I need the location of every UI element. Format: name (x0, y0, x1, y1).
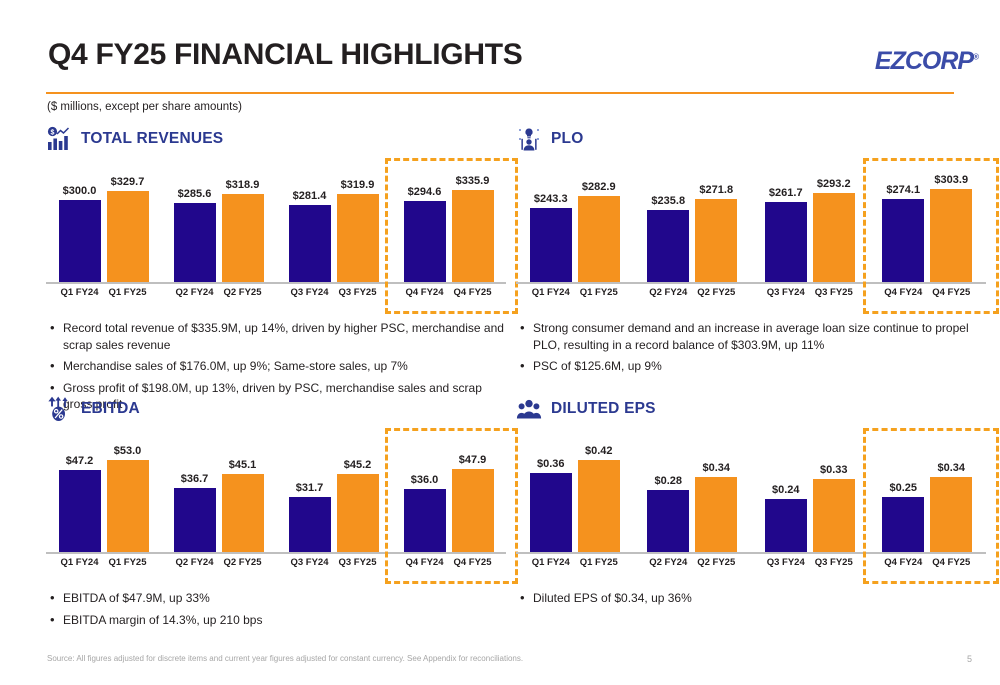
bar-prior-year (59, 470, 101, 552)
bar-prior-year (174, 203, 216, 282)
bar-chart-dollar-icon: $ (46, 125, 72, 153)
chart-tick-label: Q1 FY24 (59, 557, 101, 568)
bar-prior-year (647, 490, 689, 552)
bar-prior-year (404, 201, 446, 282)
chart-tick-label: Q4 FY25 (930, 557, 972, 568)
bar-current-year (813, 193, 855, 282)
chart-tick-group: Q1 FY24Q1 FY25 (516, 557, 634, 568)
bar-value-label: $285.6 (178, 188, 212, 200)
bullet-item: Merchandise sales of $176.0M, up 9%; Sam… (46, 358, 506, 375)
bar-current-year (107, 460, 149, 552)
chart-tick-label: Q1 FY25 (107, 557, 149, 568)
chart-axis-line (516, 552, 986, 554)
chart-tick-label: Q2 FY24 (647, 287, 689, 298)
bar-value-label: $0.34 (702, 462, 730, 474)
chart-bar-item: $31.7 (289, 432, 331, 552)
bar-value-label: $47.2 (66, 455, 94, 467)
chart-tick-group: Q2 FY24Q2 FY25 (161, 287, 276, 298)
chart-x-tick-labels: Q1 FY24Q1 FY25Q2 FY24Q2 FY25Q3 FY24Q3 FY… (516, 557, 986, 568)
bar-value-label: $274.1 (886, 184, 920, 196)
chart-tick-label: Q4 FY24 (882, 287, 924, 298)
bar-value-label: $0.36 (537, 458, 565, 470)
bar-value-label: $271.8 (699, 184, 733, 196)
chart-plo: $243.3$282.9$235.8$271.8$261.7$293.2$274… (516, 162, 986, 310)
bar-prior-year (289, 497, 331, 552)
chart-tick-label: Q4 FY25 (452, 287, 494, 298)
bar-current-year (337, 474, 379, 553)
panel-title-ebitda: EBITDA (81, 400, 140, 418)
bar-prior-year (765, 499, 807, 552)
bar-value-label: $0.33 (820, 464, 848, 476)
bullets-diluted-eps: Diluted EPS of $0.34, up 36% (516, 590, 986, 607)
chart-tick-label: Q1 FY24 (530, 557, 572, 568)
chart-bar-item: $243.3 (530, 162, 572, 282)
chart-tick-label: Q4 FY24 (882, 557, 924, 568)
units-note: ($ millions, except per share amounts) (47, 101, 242, 113)
bar-value-label: $293.2 (817, 178, 851, 190)
chart-plot-area: $47.2$53.0$36.7$45.1$31.7$45.2$36.0$47.9 (46, 432, 506, 552)
page-number: 5 (967, 654, 972, 664)
bar-prior-year (647, 210, 689, 282)
chart-tick-label: Q2 FY24 (174, 287, 216, 298)
chart-bar-item: $0.36 (530, 432, 572, 552)
growth-percent-icon (46, 395, 72, 423)
bar-value-label: $36.7 (181, 473, 209, 485)
bar-value-label: $318.9 (226, 179, 260, 191)
bullet-item: Record total revenue of $335.9M, up 14%,… (46, 320, 506, 353)
chart-total-revenues: $300.0$329.7$285.6$318.9$281.4$319.9$294… (46, 162, 506, 310)
chart-bar-item: $281.4 (289, 162, 331, 282)
trademark-mark: ® (973, 53, 978, 62)
chart-bar-item: $282.9 (578, 162, 620, 282)
chart-bar-group: $261.7$293.2 (751, 162, 869, 282)
chart-tick-label: Q1 FY25 (107, 287, 149, 298)
chart-bar-group: $300.0$329.7 (46, 162, 161, 282)
bullet-item: Diluted EPS of $0.34, up 36% (516, 590, 986, 607)
bar-prior-year (882, 497, 924, 552)
panel-title-total-revenues: TOTAL REVENUES (81, 130, 223, 148)
chart-x-tick-labels: Q1 FY24Q1 FY25Q2 FY24Q2 FY25Q3 FY24Q3 FY… (516, 287, 986, 298)
chart-tick-label: Q3 FY25 (337, 557, 379, 568)
bullet-item: PSC of $125.6M, up 9% (516, 358, 986, 375)
chart-bar-item: $45.2 (337, 432, 379, 552)
bar-current-year (578, 196, 620, 282)
chart-tick-label: Q3 FY24 (765, 287, 807, 298)
bar-prior-year (174, 488, 216, 552)
bar-prior-year (882, 199, 924, 282)
chart-tick-label: Q4 FY25 (452, 557, 494, 568)
panel-header-ebitda: EBITDA (46, 394, 506, 424)
bar-current-year (578, 460, 620, 552)
chart-bar-group: $0.28$0.34 (634, 432, 752, 552)
chart-bar-item: $293.2 (813, 162, 855, 282)
chart-bar-item: $303.9 (930, 162, 972, 282)
chart-tick-label: Q2 FY25 (222, 557, 264, 568)
bar-value-label: $319.9 (341, 179, 375, 191)
bar-current-year (695, 199, 737, 282)
chart-bar-item: $0.24 (765, 432, 807, 552)
brand-logo-text: EZCORP (875, 47, 973, 75)
chart-bar-item: $53.0 (107, 432, 149, 552)
bar-value-label: $300.0 (63, 185, 97, 197)
chart-plot-area: $243.3$282.9$235.8$271.8$261.7$293.2$274… (516, 162, 986, 282)
chart-bar-item: $300.0 (59, 162, 101, 282)
chart-plot-area: $0.36$0.42$0.28$0.34$0.24$0.33$0.25$0.34 (516, 432, 986, 552)
bar-value-label: $0.25 (889, 482, 917, 494)
bar-value-label: $0.42 (585, 445, 613, 457)
chart-bar-group: $0.36$0.42 (516, 432, 634, 552)
chart-bar-item: $36.7 (174, 432, 216, 552)
bar-value-label: $31.7 (296, 482, 324, 494)
chart-bar-item: $0.42 (578, 432, 620, 552)
chart-bar-item: $274.1 (882, 162, 924, 282)
chart-tick-group: Q3 FY24Q3 FY25 (751, 557, 869, 568)
chart-tick-group: Q2 FY24Q2 FY25 (161, 557, 276, 568)
footer-source-note: Source: All figures adjusted for discret… (47, 654, 523, 663)
bar-value-label: $45.2 (344, 459, 372, 471)
panel-header-plo: PLO (516, 124, 986, 154)
bar-current-year (930, 477, 972, 552)
bar-current-year (222, 474, 264, 552)
bar-prior-year (765, 202, 807, 282)
page-title: Q4 FY25 FINANCIAL HIGHLIGHTS (48, 38, 522, 72)
bar-current-year (452, 190, 494, 282)
chart-tick-label: Q3 FY24 (289, 287, 331, 298)
bar-value-label: $335.9 (456, 175, 490, 187)
bar-value-label: $329.7 (111, 176, 145, 188)
panel-total-revenues: $ TOTAL REVENUES $300.0$329.7$285.6$318.… (46, 124, 506, 394)
chart-bar-group: $36.7$45.1 (161, 432, 276, 552)
chart-tick-group: Q1 FY24Q1 FY25 (46, 557, 161, 568)
chart-bar-item: $0.34 (930, 432, 972, 552)
chart-bar-item: $261.7 (765, 162, 807, 282)
bar-current-year (813, 479, 855, 552)
chart-bar-group: $31.7$45.2 (276, 432, 391, 552)
chart-plot-area: $300.0$329.7$285.6$318.9$281.4$319.9$294… (46, 162, 506, 282)
chart-axis-line (46, 552, 506, 554)
chart-bar-item: $47.2 (59, 432, 101, 552)
chart-tick-label: Q2 FY24 (647, 557, 689, 568)
bullets-ebitda: EBITDA of $47.9M, up 33%EBITDA margin of… (46, 590, 506, 628)
bar-prior-year (59, 200, 101, 283)
chart-tick-label: Q4 FY24 (404, 287, 446, 298)
chart-tick-label: Q3 FY25 (813, 557, 855, 568)
bar-value-label: $45.1 (229, 459, 257, 471)
chart-bar-item: $0.28 (647, 432, 689, 552)
bar-value-label: $294.6 (408, 186, 442, 198)
bullet-item: Strong consumer demand and an increase i… (516, 320, 986, 353)
chart-bar-item: $235.8 (647, 162, 689, 282)
chart-bar-item: $47.9 (452, 432, 494, 552)
bar-current-year (930, 189, 972, 282)
chart-tick-group: Q4 FY24Q4 FY25 (869, 557, 987, 568)
chart-ebitda: $47.2$53.0$36.7$45.1$31.7$45.2$36.0$47.9… (46, 432, 506, 580)
header-divider (46, 92, 954, 94)
chart-bar-item: $271.8 (695, 162, 737, 282)
chart-tick-label: Q3 FY24 (765, 557, 807, 568)
bar-prior-year (530, 473, 572, 552)
panel-header-total-revenues: $ TOTAL REVENUES (46, 124, 506, 154)
bar-prior-year (404, 489, 446, 552)
chart-tick-label: Q1 FY24 (59, 287, 101, 298)
chart-bar-group: $47.2$53.0 (46, 432, 161, 552)
chart-tick-group: Q2 FY24Q2 FY25 (634, 287, 752, 298)
bar-value-label: $53.0 (114, 445, 142, 457)
chart-bar-group: $243.3$282.9 (516, 162, 634, 282)
chart-tick-label: Q3 FY25 (813, 287, 855, 298)
chart-tick-label: Q4 FY24 (404, 557, 446, 568)
chart-tick-label: Q4 FY25 (930, 287, 972, 298)
chart-bar-item: $335.9 (452, 162, 494, 282)
chart-tick-label: Q2 FY25 (695, 287, 737, 298)
chart-bar-item: $0.25 (882, 432, 924, 552)
bar-value-label: $303.9 (934, 174, 968, 186)
person-idea-icon (516, 125, 542, 153)
chart-axis-line (516, 282, 986, 284)
bar-value-label: $36.0 (411, 474, 439, 486)
bar-value-label: $0.28 (654, 475, 682, 487)
panel-plo: PLO $243.3$282.9$235.8$271.8$261.7$293.2… (516, 124, 986, 394)
chart-bar-group: $281.4$319.9 (276, 162, 391, 282)
chart-x-tick-labels: Q1 FY24Q1 FY25Q2 FY24Q2 FY25Q3 FY24Q3 FY… (46, 287, 506, 298)
bar-value-label: $261.7 (769, 187, 803, 199)
chart-bar-item: $294.6 (404, 162, 446, 282)
bar-current-year (222, 194, 264, 282)
bar-prior-year (530, 208, 572, 282)
panel-title-diluted-eps: DILUTED EPS (551, 400, 656, 418)
bullet-item: EBITDA margin of 14.3%, up 210 bps (46, 612, 506, 629)
chart-tick-group: Q1 FY24Q1 FY25 (46, 287, 161, 298)
chart-tick-label: Q3 FY25 (337, 287, 379, 298)
bar-current-year (452, 469, 494, 552)
bar-value-label: $243.3 (534, 193, 568, 205)
chart-bar-item: $329.7 (107, 162, 149, 282)
chart-tick-group: Q3 FY24Q3 FY25 (751, 287, 869, 298)
chart-diluted-eps: $0.36$0.42$0.28$0.34$0.24$0.33$0.25$0.34… (516, 432, 986, 580)
chart-bar-item: $285.6 (174, 162, 216, 282)
chart-bar-item: $0.34 (695, 432, 737, 552)
bar-current-year (695, 477, 737, 552)
panel-title-plo: PLO (551, 130, 583, 148)
chart-tick-group: Q1 FY24Q1 FY25 (516, 287, 634, 298)
chart-bar-group: $0.25$0.34 (869, 432, 987, 552)
chart-bar-group: $0.24$0.33 (751, 432, 869, 552)
chart-bar-group: $285.6$318.9 (161, 162, 276, 282)
chart-bar-item: $318.9 (222, 162, 264, 282)
bar-value-label: $281.4 (293, 190, 327, 202)
chart-bar-group: $274.1$303.9 (869, 162, 987, 282)
chart-bar-item: $0.33 (813, 432, 855, 552)
panel-header-diluted-eps: DILUTED EPS (516, 394, 986, 424)
bar-prior-year (289, 205, 331, 282)
chart-tick-label: Q2 FY24 (174, 557, 216, 568)
bullets-plo: Strong consumer demand and an increase i… (516, 320, 986, 375)
bar-value-label: $282.9 (582, 181, 616, 193)
people-group-icon (516, 395, 542, 423)
bar-current-year (337, 194, 379, 282)
chart-tick-label: Q1 FY25 (578, 287, 620, 298)
bar-value-label: $235.8 (651, 195, 685, 207)
panel-diluted-eps: DILUTED EPS $0.36$0.42$0.28$0.34$0.24$0.… (516, 394, 986, 609)
chart-tick-label: Q2 FY25 (222, 287, 264, 298)
chart-tick-label: Q1 FY24 (530, 287, 572, 298)
bar-value-label: $0.34 (937, 462, 965, 474)
bar-value-label: $47.9 (459, 454, 487, 466)
bullet-item: EBITDA of $47.9M, up 33% (46, 590, 506, 607)
brand-logo: EZCORP® (875, 47, 978, 76)
chart-tick-label: Q1 FY25 (578, 557, 620, 568)
chart-axis-line (46, 282, 506, 284)
chart-bar-group: $36.0$47.9 (391, 432, 506, 552)
chart-bar-item: $319.9 (337, 162, 379, 282)
bar-value-label: $0.24 (772, 484, 800, 496)
chart-tick-group: Q3 FY24Q3 FY25 (276, 287, 391, 298)
chart-tick-group: Q3 FY24Q3 FY25 (276, 557, 391, 568)
panel-ebitda: EBITDA $47.2$53.0$36.7$45.1$31.7$45.2$36… (46, 394, 506, 609)
svg-text:$: $ (51, 129, 55, 136)
chart-bar-item: $36.0 (404, 432, 446, 552)
chart-tick-group: Q4 FY24Q4 FY25 (869, 287, 987, 298)
chart-tick-label: Q3 FY24 (289, 557, 331, 568)
chart-bar-group: $235.8$271.8 (634, 162, 752, 282)
chart-bar-group: $294.6$335.9 (391, 162, 506, 282)
chart-bar-item: $45.1 (222, 432, 264, 552)
chart-tick-group: Q4 FY24Q4 FY25 (391, 557, 506, 568)
chart-tick-group: Q2 FY24Q2 FY25 (634, 557, 752, 568)
bar-current-year (107, 191, 149, 282)
chart-tick-label: Q2 FY25 (695, 557, 737, 568)
chart-x-tick-labels: Q1 FY24Q1 FY25Q2 FY24Q2 FY25Q3 FY24Q3 FY… (46, 557, 506, 568)
chart-tick-group: Q4 FY24Q4 FY25 (391, 287, 506, 298)
